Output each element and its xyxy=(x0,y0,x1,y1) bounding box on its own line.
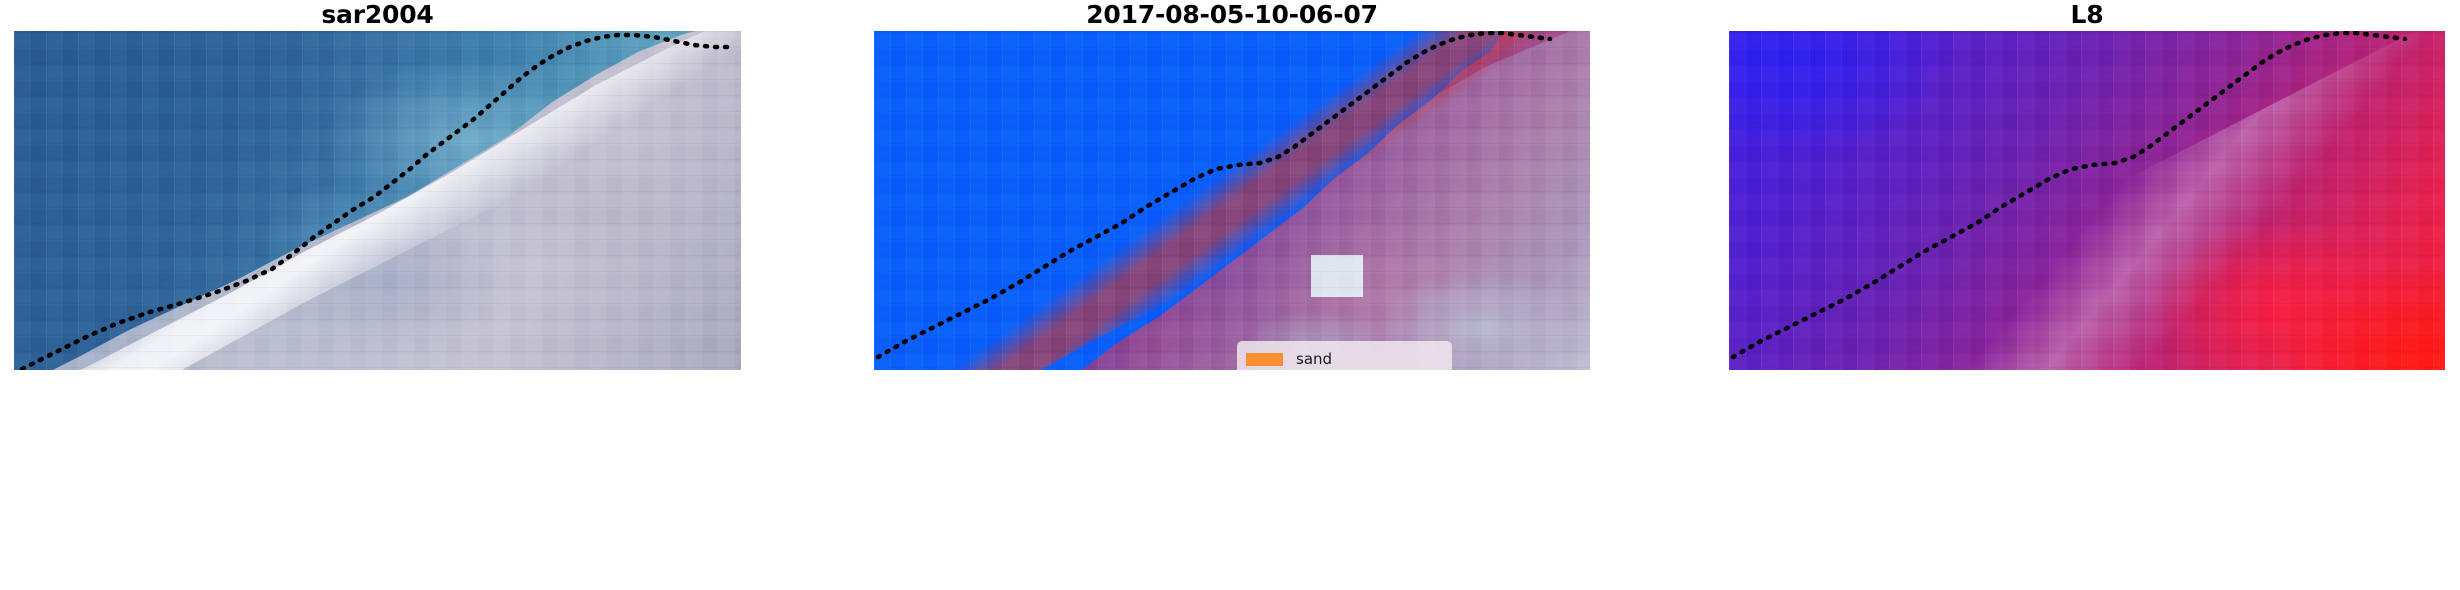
legend-item-sand: sand xyxy=(1246,349,1443,369)
axes-l8 xyxy=(1729,31,2445,370)
legend-swatch-sand xyxy=(1246,353,1283,366)
panel-l8: L8 xyxy=(1729,0,2445,590)
axes-sar2004 xyxy=(14,31,741,370)
figure-canvas: sar2004 2017-08-05-10-06-07 xyxy=(0,0,2460,590)
panel-title-2: 2017-08-05-10-06-07 xyxy=(874,0,1590,31)
panel-title-3: L8 xyxy=(1729,0,2445,31)
legend-item-whitewater: whitewater xyxy=(1246,369,1443,370)
legend-box: sand whitewater water shoreline referenc… xyxy=(1237,341,1452,370)
axes-classification: sand whitewater water shoreline referenc… xyxy=(874,31,1590,370)
legend-label-sand: sand xyxy=(1296,352,1332,367)
panel-title-1: sar2004 xyxy=(14,0,741,31)
panel-classification: 2017-08-05-10-06-07 sand xyxy=(874,0,1590,590)
whitewater-class-patch xyxy=(1311,255,1363,297)
panel-sar2004: sar2004 xyxy=(14,0,741,590)
